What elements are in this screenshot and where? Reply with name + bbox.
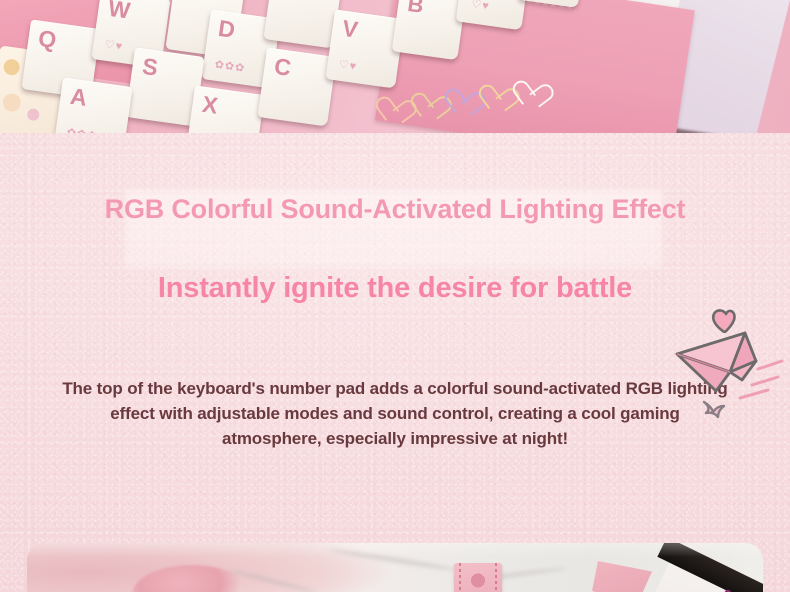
sticker-dot — [3, 58, 21, 76]
paper-plane-illustration — [670, 298, 790, 443]
product-detail-page: ××××××××××××××× Q W♡♥ D✿✿✿ F S A✿✿✿ — [0, 0, 790, 592]
photo-top-sheen — [27, 543, 763, 557]
product-box — [454, 563, 502, 592]
keycap-b: B — [392, 0, 467, 60]
confetti-dots — [717, 581, 763, 592]
sticker-dot — [27, 108, 41, 122]
paper-plane-icon — [677, 333, 756, 391]
heart-icon — [713, 310, 734, 331]
box-label — [468, 572, 488, 592]
keyboard-closeup-photo: ××××××××××××××× Q W♡♥ D✿✿✿ F S A✿✿✿ — [0, 0, 790, 133]
keycap-x: X — [185, 85, 264, 133]
heart-icon — [522, 79, 551, 107]
feature-description: The top of the keyboard's number pad add… — [60, 377, 730, 451]
sticker-dot — [2, 92, 22, 112]
page-subtitle: Instantly ignite the desire for battle — [95, 271, 695, 306]
keycap-a: A✿✿✿ — [53, 77, 132, 133]
feature-panel: RGB Colorful Sound-Activated Lighting Ef… — [0, 133, 790, 592]
sparkle-star-icon — [704, 402, 724, 417]
keyboard-lifestyle-photo — [27, 543, 763, 592]
keycap-c: C — [257, 47, 336, 126]
page-title: RGB Colorful Sound-Activated Lighting Ef… — [95, 193, 695, 226]
